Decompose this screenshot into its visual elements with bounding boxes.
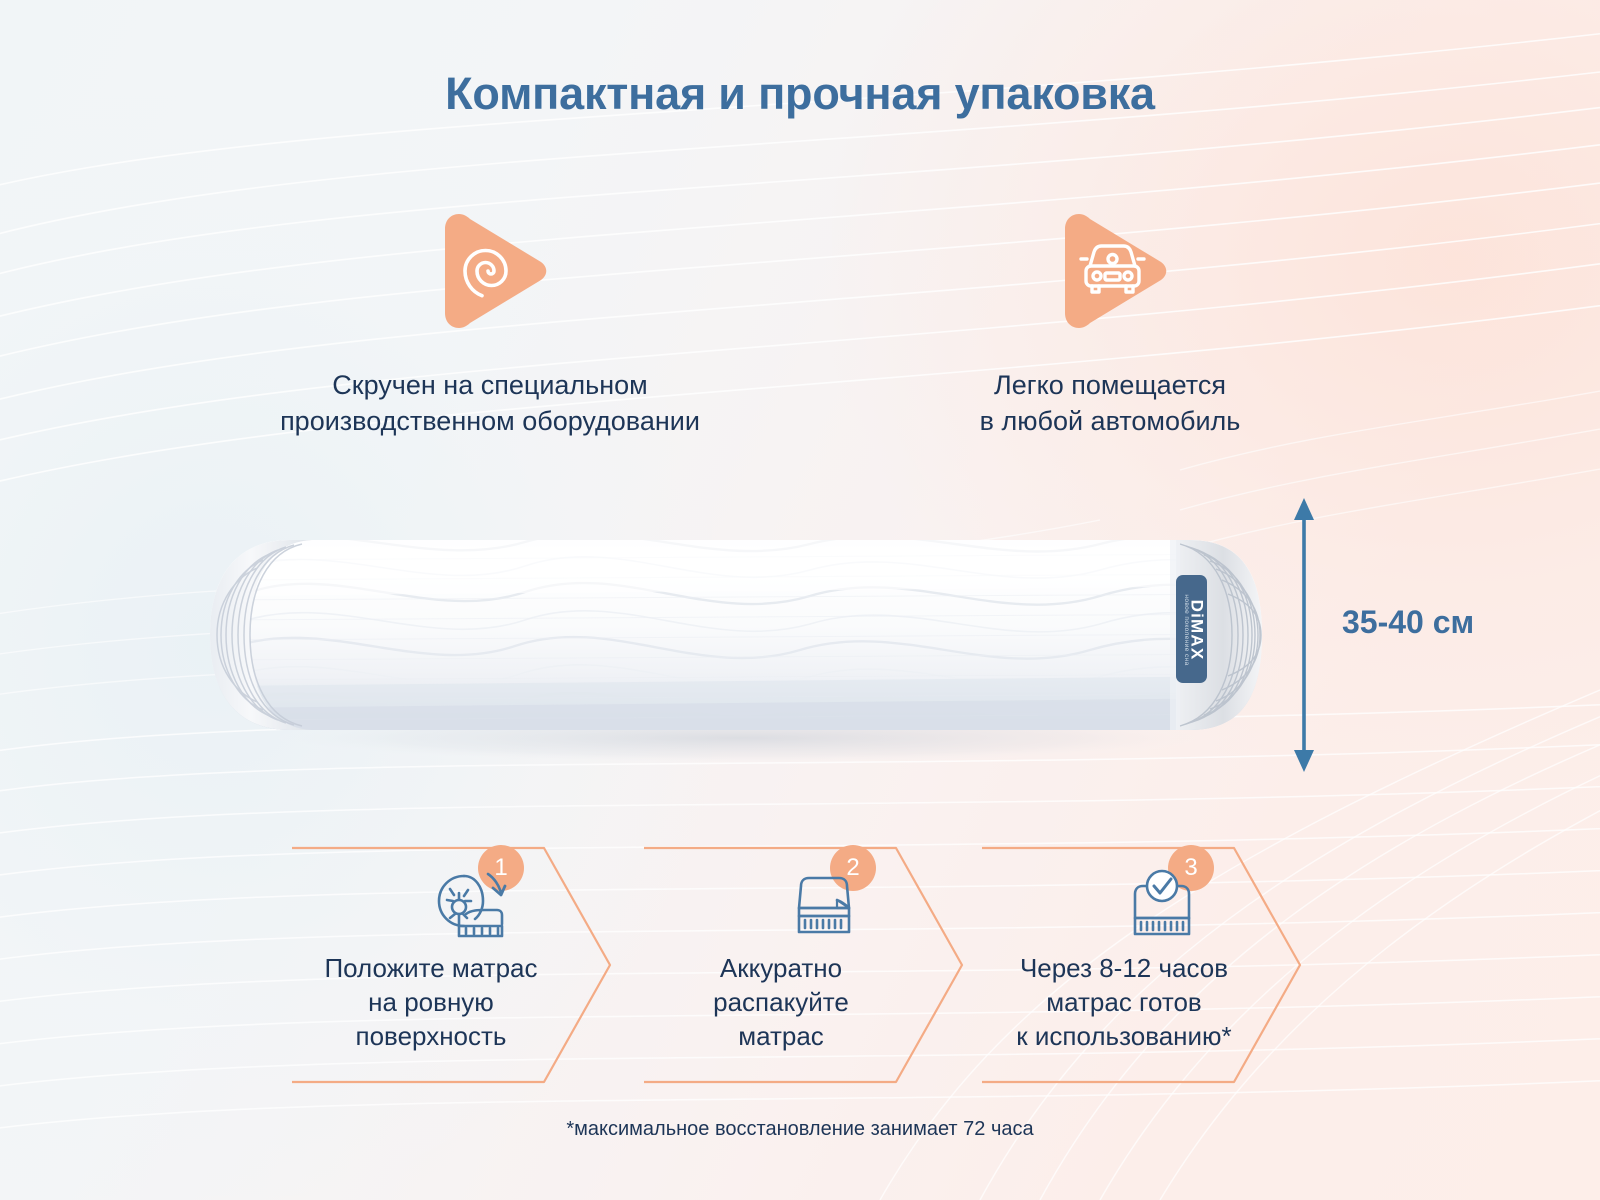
svg-text:новое поколение сна: новое поколение сна [1183, 594, 1190, 665]
feature-fits-any-car: Легко помещается в любой автомобиль [860, 196, 1360, 440]
step-caption: Аккуратно распакуйте матрас [636, 952, 926, 1053]
car-icon [1035, 196, 1185, 346]
steps-row: 1 Положите [292, 840, 1302, 1090]
feature-caption: Скручен на специальном производственном … [200, 368, 780, 440]
height-dimension: 35-40 см [1286, 496, 1586, 774]
feature-caption: Легко помещается в любой автомобиль [860, 368, 1360, 440]
unpack-mattress-icon [785, 868, 863, 947]
page-title: Компактная и прочная упаковка [0, 68, 1600, 120]
infographic-canvas: Компактная и прочная упаковка Скручен на… [0, 0, 1600, 1200]
spiral-roll-icon [415, 196, 565, 346]
step-caption: Положите матрас на ровную поверхность [286, 952, 576, 1053]
footnote: *максимальное восстановление занимает 72… [0, 1118, 1600, 1141]
step-2: 2 Аккуратно распакуйте матрас [644, 840, 1004, 1090]
mattress-ready-check-icon [1123, 868, 1201, 947]
brand-tag: DiMAX новое поколение сна [1176, 575, 1207, 683]
step-3: 3 Через 8-12 часов матрас готов к исполь… [982, 840, 1342, 1090]
rolled-mattress-image: DiMAX новое поколение сна [180, 500, 1270, 770]
unroll-mattress-icon [433, 868, 511, 947]
step-1: 1 Положите [292, 840, 652, 1090]
dimension-label: 35-40 см [1342, 604, 1474, 641]
feature-rolled-on-equipment: Скручен на специальном производственном … [200, 196, 780, 440]
step-caption: Через 8-12 часов матрас готов к использо… [974, 952, 1274, 1053]
